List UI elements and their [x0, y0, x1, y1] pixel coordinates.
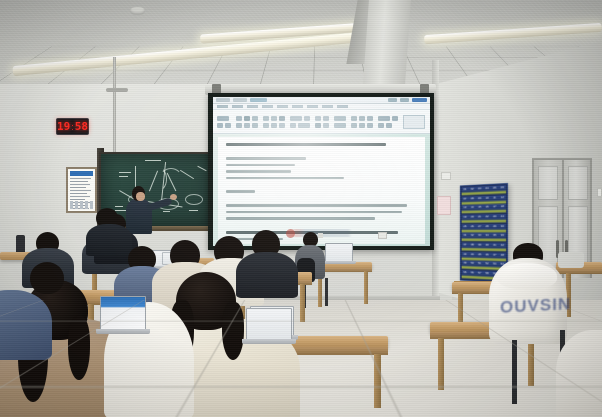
- chair-leg: [512, 340, 517, 404]
- pocket-slot[interactable]: 56: [469, 270, 476, 279]
- pocket-slot[interactable]: 01: [462, 187, 469, 196]
- document-line: [226, 164, 295, 167]
- desk-leg: [438, 338, 444, 390]
- pocket-slot[interactable]: 38: [469, 242, 476, 251]
- document-page: [218, 137, 425, 244]
- pocket-slot[interactable]: 27: [476, 224, 483, 233]
- menu-item[interactable]: [217, 105, 228, 108]
- chair-leg: [325, 278, 328, 306]
- pocket-slot[interactable]: 50: [469, 261, 476, 270]
- pocket-slot[interactable]: 49: [462, 261, 469, 270]
- wall-fixture: [318, 233, 323, 238]
- jacket-back-print: OUVSIN: [500, 296, 572, 314]
- pocket-slot[interactable]: 34: [484, 233, 491, 242]
- desk-leg: [300, 284, 305, 322]
- document-line: [226, 170, 291, 173]
- light-switch[interactable]: [597, 188, 602, 197]
- pocket-slot[interactable]: 10: [484, 195, 491, 204]
- document-line: [226, 157, 306, 160]
- document-line: [226, 204, 407, 207]
- poster-header: [70, 171, 93, 176]
- pocket-slot[interactable]: 03: [476, 186, 483, 195]
- pocket-slot[interactable]: 23: [491, 214, 498, 223]
- pocket-slot[interactable]: 51: [476, 261, 483, 270]
- menu-item[interactable]: [247, 105, 258, 108]
- pocket-slot[interactable]: 14: [469, 205, 476, 214]
- pocket-slot[interactable]: 45: [476, 252, 483, 261]
- pocket-slot[interactable]: 24: [499, 214, 506, 223]
- menu-item[interactable]: [337, 105, 348, 108]
- pocket-slot[interactable]: 05: [491, 185, 498, 194]
- pocket-slot[interactable]: 06: [499, 185, 506, 194]
- pocket-slot[interactable]: 57: [476, 271, 483, 280]
- pocket-slot[interactable]: 13: [462, 205, 469, 214]
- desk-leg: [374, 354, 381, 408]
- pocket-slot[interactable]: 41: [491, 243, 498, 252]
- wall-switch-panel[interactable]: [441, 172, 451, 180]
- pocket-slot[interactable]: 43: [462, 252, 469, 261]
- pocket-slot[interactable]: 44: [469, 252, 476, 261]
- pocket-slot[interactable]: 46: [484, 252, 491, 261]
- smoke-detector-icon: [130, 7, 145, 15]
- pocket-slot[interactable]: 29: [491, 224, 498, 233]
- menu-item[interactable]: [322, 105, 333, 108]
- pocket-slot[interactable]: 26: [469, 224, 476, 233]
- pocket-slot[interactable]: 18: [499, 204, 506, 213]
- pocket-slot[interactable]: 30: [499, 224, 506, 233]
- clock-minutes: 58: [75, 121, 88, 132]
- ribbon-toolbar: [213, 110, 430, 134]
- pocket-slot[interactable]: 33: [476, 233, 483, 242]
- led-wall-clock: 19 : 58: [56, 118, 89, 135]
- pocket-slot[interactable]: 11: [491, 195, 498, 204]
- document-line: [226, 177, 344, 180]
- style-gallery-button[interactable]: [403, 115, 425, 129]
- desk-leg: [364, 271, 368, 304]
- pocket-slot[interactable]: 25: [462, 224, 469, 233]
- menu-item[interactable]: [277, 105, 288, 108]
- ceiling-hook: [106, 88, 128, 92]
- pocket-slot[interactable]: 37: [462, 242, 469, 251]
- pocket-slot[interactable]: 17: [491, 205, 498, 214]
- desk-edge: [556, 269, 602, 274]
- pocket-slot[interactable]: 32: [469, 233, 476, 242]
- pocket-slot[interactable]: 15: [476, 205, 483, 214]
- pocket-slot[interactable]: 20: [469, 215, 476, 224]
- pocket-slot[interactable]: 19: [462, 215, 469, 224]
- clock-hours: 19: [57, 121, 70, 132]
- share-button[interactable]: [412, 98, 427, 102]
- pocket-slot[interactable]: 02: [469, 187, 476, 196]
- desk-leg: [528, 338, 534, 386]
- pocket-slot[interactable]: 12: [499, 195, 506, 204]
- app-titlebar: [213, 97, 430, 104]
- clock-separator: :: [71, 122, 74, 132]
- pocket-slot[interactable]: 08: [469, 196, 476, 205]
- document-line: [226, 190, 255, 193]
- menu-item[interactable]: [307, 105, 318, 108]
- pocket-slot[interactable]: 36: [499, 233, 506, 242]
- pocket-slot[interactable]: 21: [476, 214, 483, 223]
- document-line: [226, 211, 402, 214]
- projector-screen: [208, 93, 434, 250]
- poster-footer: [70, 201, 93, 209]
- pocket-slot[interactable]: 55: [462, 270, 469, 279]
- wall-outlet: [378, 232, 387, 239]
- menu-item[interactable]: [292, 105, 303, 108]
- classroom-photo: 19 : 58: [0, 0, 602, 417]
- pocket-slot[interactable]: 09: [476, 196, 483, 205]
- pocket-slot[interactable]: 31: [462, 233, 469, 242]
- wall-pink-notice: [437, 196, 451, 215]
- pocket-slot[interactable]: 04: [484, 186, 491, 195]
- pocket-slot[interactable]: 07: [462, 196, 469, 205]
- pocket-slot[interactable]: 48: [499, 252, 506, 261]
- wall-poster: [66, 167, 97, 213]
- menu-item[interactable]: [232, 105, 243, 108]
- pocket-slot[interactable]: 39: [476, 243, 483, 252]
- pocket-slot[interactable]: 52: [484, 261, 491, 270]
- hood: [497, 263, 557, 289]
- papers-on-desk: [558, 252, 584, 268]
- pocket-slot[interactable]: 40: [484, 243, 491, 252]
- pocket-slot[interactable]: 16: [484, 205, 491, 214]
- pocket-slot[interactable]: 42: [499, 243, 506, 252]
- pocket-slot[interactable]: 47: [491, 252, 498, 261]
- pocket-slot[interactable]: 28: [484, 224, 491, 233]
- projected-image: [213, 97, 430, 246]
- ceiling-column: [363, 0, 411, 84]
- pocket-slot[interactable]: 22: [484, 214, 491, 223]
- pocket-slot[interactable]: 35: [491, 233, 498, 242]
- active-tab[interactable]: [250, 98, 267, 102]
- document-line: [226, 143, 386, 146]
- menu-item[interactable]: [262, 105, 273, 108]
- pocket-slot[interactable]: 58: [484, 271, 491, 280]
- document-line: [226, 217, 375, 220]
